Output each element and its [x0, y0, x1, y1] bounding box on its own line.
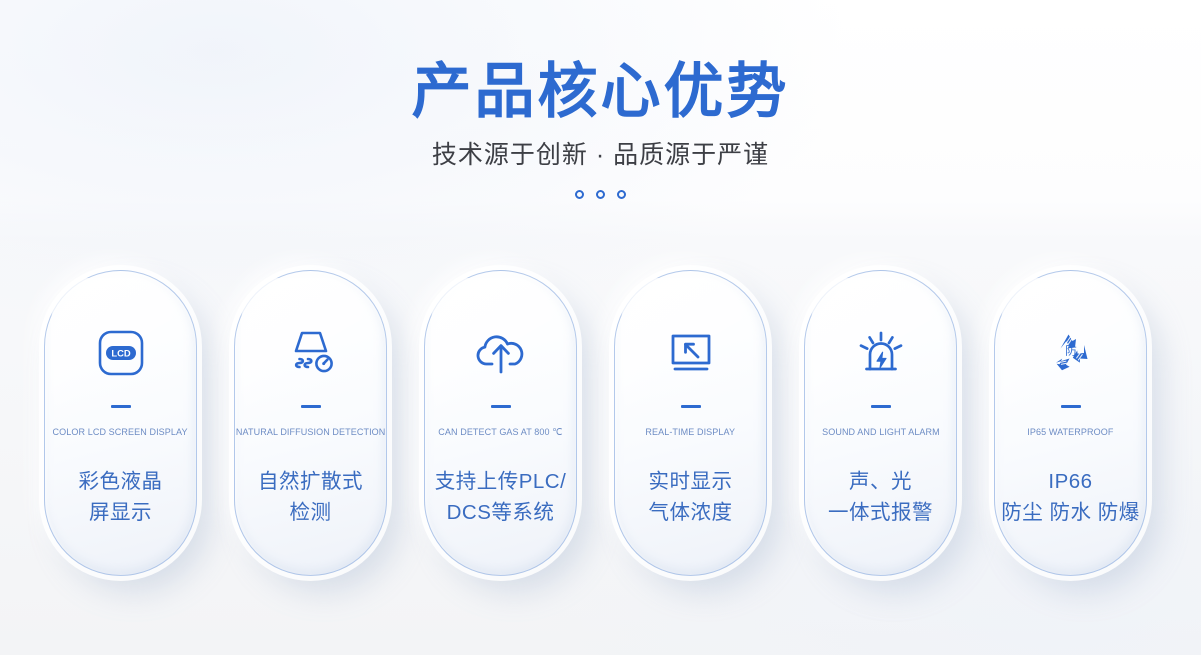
dot-icon — [575, 190, 584, 199]
card-caption-cn: 声、光 一体式报警 — [828, 466, 933, 528]
card-divider — [491, 405, 511, 408]
feature-card-ip66-protection[interactable]: 防 IP65 WATERPROOF IP66 防尘 防水 防爆 — [994, 270, 1147, 576]
lcd-screen-icon: LCD — [45, 323, 196, 383]
protection-icon-label: 防 — [1065, 344, 1077, 358]
card-divider — [111, 405, 131, 408]
monitor-realtime-icon — [615, 323, 766, 383]
natural-diffusion-icon — [235, 323, 386, 383]
card-caption-cn: IP66 防尘 防水 防爆 — [1001, 466, 1139, 528]
card-caption-cn: 自然扩散式 检测 — [258, 466, 363, 528]
card-caption-en: COLOR LCD SCREEN DISPLAY — [53, 427, 188, 439]
card-caption-en: REAL-TIME DISPLAY — [646, 427, 736, 439]
page-subtitle: 技术源于创新 · 品质源于严谨 — [0, 138, 1201, 172]
lcd-icon-label: LCD — [111, 348, 130, 359]
card-caption-en: NATURAL DIFFUSION DETECTION — [236, 427, 385, 439]
feature-card-sound-light-alarm[interactable]: SOUND AND LIGHT ALARM 声、光 一体式报警 — [804, 270, 957, 576]
feature-card-lcd-display[interactable]: LCD COLOR LCD SCREEN DISPLAY 彩色液晶 屏显示 — [44, 270, 197, 576]
feature-card-realtime-display[interactable]: REAL-TIME DISPLAY 实时显示 气体浓度 — [614, 270, 767, 576]
card-caption-cn: 实时显示 气体浓度 — [649, 466, 733, 528]
page-title: 产品核心优势 — [0, 56, 1201, 128]
alarm-siren-icon — [805, 323, 956, 383]
feature-card-row: LCD COLOR LCD SCREEN DISPLAY 彩色液晶 屏显示 — [44, 270, 1157, 580]
card-caption-cn: 支持上传PLC/ DCS等系统 — [435, 466, 567, 528]
decorative-dots — [0, 190, 1201, 199]
card-caption-en: SOUND AND LIGHT ALARM — [822, 427, 940, 439]
cloud-upload-icon — [425, 323, 576, 383]
card-caption-en: CAN DETECT GAS AT 800 ℃ — [438, 427, 562, 439]
page-header: 产品核心优势 技术源于创新 · 品质源于严谨 — [0, 0, 1201, 240]
card-caption-cn: 彩色液晶 屏显示 — [79, 466, 163, 528]
card-divider — [681, 405, 701, 408]
feature-card-natural-diffusion[interactable]: NATURAL DIFFUSION DETECTION 自然扩散式 检测 — [234, 270, 387, 576]
feature-card-cloud-upload[interactable]: CAN DETECT GAS AT 800 ℃ 支持上传PLC/ DCS等系统 — [424, 270, 577, 576]
card-divider — [301, 405, 321, 408]
dot-icon — [617, 190, 626, 199]
recycle-protection-icon: 防 — [995, 323, 1146, 383]
card-caption-en: IP65 WATERPROOF — [1027, 427, 1113, 439]
card-divider — [871, 405, 891, 408]
dot-icon — [596, 190, 605, 199]
card-divider — [1061, 405, 1081, 408]
